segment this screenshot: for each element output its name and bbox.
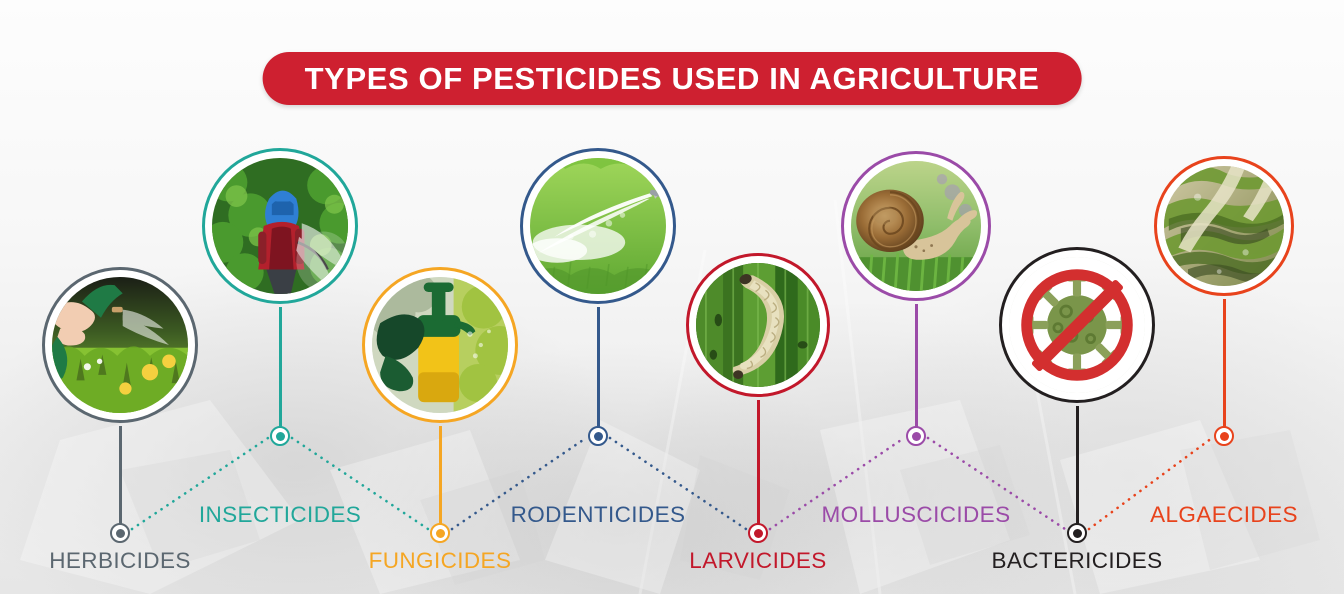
pesticide-image-rodenticides — [530, 158, 666, 294]
connector-dot-herbicides[interactable] — [110, 523, 130, 543]
connector-dot-core-molluscicides — [912, 432, 921, 441]
connector-dot-molluscicides[interactable] — [906, 426, 926, 446]
pesticide-image-algaecides — [1164, 166, 1284, 286]
connector-dot-core-bactericides — [1073, 529, 1082, 538]
connector-dot-core-herbicides — [116, 529, 125, 538]
page-title-badge: TYPES OF PESTICIDES USED IN AGRICULTURE — [263, 52, 1082, 105]
category-label-insecticides[interactable]: INSECTICIDES — [199, 502, 361, 528]
connector-stem-bactericides — [1076, 406, 1079, 524]
connector-dot-core-larvicides — [754, 529, 763, 538]
pesticide-image-larvicides — [696, 263, 820, 387]
category-label-fungicides[interactable]: FUNGICIDES — [369, 548, 512, 574]
connector-dot-core-algaecides — [1220, 432, 1229, 441]
connector-dot-core-rodenticides — [594, 432, 603, 441]
connector-stem-insecticides — [279, 307, 282, 427]
pesticide-image-herbicides — [52, 277, 188, 413]
pesticide-image-molluscicides — [851, 161, 981, 291]
connector-stem-larvicides — [757, 400, 760, 524]
connector-dot-fungicides[interactable] — [430, 523, 450, 543]
connector-dot-insecticides[interactable] — [270, 426, 290, 446]
category-label-rodenticides[interactable]: RODENTICIDES — [511, 502, 686, 528]
pesticide-image-insecticides — [212, 158, 348, 294]
connector-dot-algaecides[interactable] — [1214, 426, 1234, 446]
connector-stem-herbicides — [119, 426, 122, 524]
connector-stem-algaecides — [1223, 299, 1226, 427]
category-label-herbicides[interactable]: HERBICIDES — [49, 548, 191, 574]
pesticide-image-bactericides — [1009, 257, 1145, 393]
category-label-molluscicides[interactable]: MOLLUSCICIDES — [822, 502, 1011, 528]
connector-stem-molluscicides — [915, 304, 918, 427]
category-label-bactericides[interactable]: BACTERICIDES — [991, 548, 1162, 574]
connector-dot-bactericides[interactable] — [1067, 523, 1087, 543]
category-label-algaecides[interactable]: ALGAECIDES — [1150, 502, 1298, 528]
connector-dot-core-fungicides — [436, 529, 445, 538]
pesticide-image-fungicides — [372, 277, 508, 413]
category-label-larvicides[interactable]: LARVICIDES — [689, 548, 826, 574]
connector-dot-larvicides[interactable] — [748, 523, 768, 543]
page-title: TYPES OF PESTICIDES USED IN AGRICULTURE — [305, 61, 1040, 97]
connector-dot-core-insecticides — [276, 432, 285, 441]
connector-dot-rodenticides[interactable] — [588, 426, 608, 446]
connector-stem-rodenticides — [597, 307, 600, 427]
connector-stem-fungicides — [439, 426, 442, 524]
